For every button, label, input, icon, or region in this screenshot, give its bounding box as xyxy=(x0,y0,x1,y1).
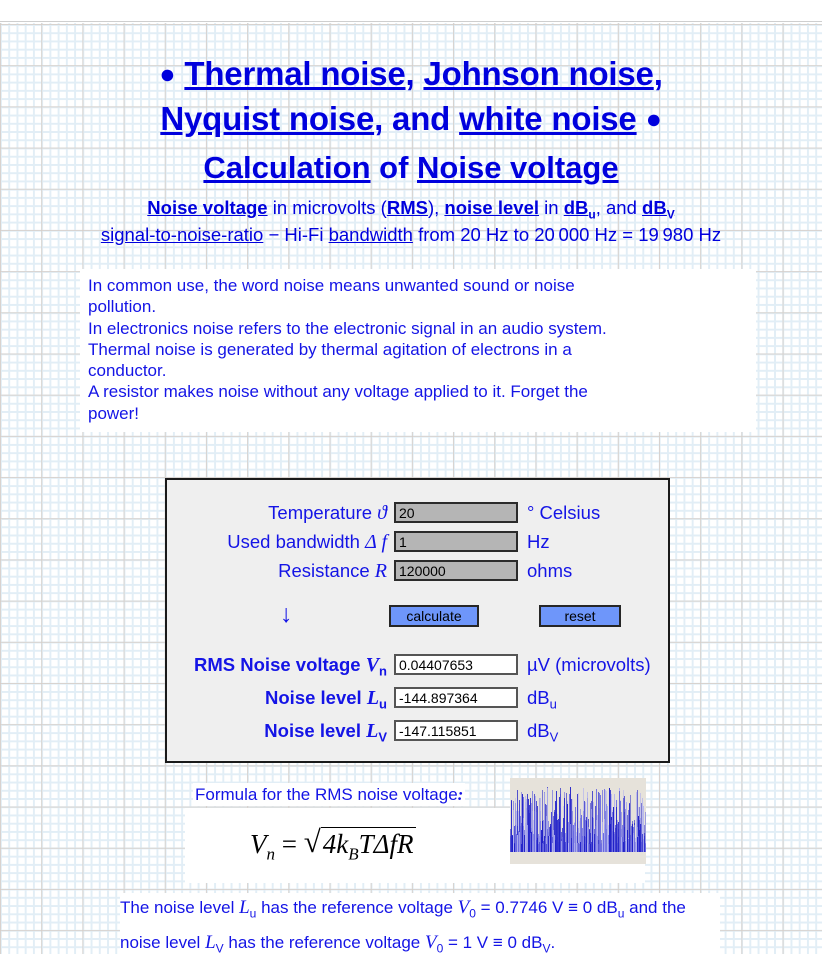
formula-box: Vn = √ 4kBTΔfR xyxy=(185,808,645,883)
link-dbu[interactable]: dBu xyxy=(564,197,596,218)
temperature-input[interactable] xyxy=(394,502,518,523)
noise-level-lu-output[interactable] xyxy=(394,687,518,708)
unit-celsius: ° Celsius xyxy=(527,500,600,526)
formula-sqrt: √ 4kBTΔfR xyxy=(304,826,417,864)
sub1-f: in xyxy=(539,197,564,218)
subtitle-line-2: signal-to-noise-ratio − Hi-Fi bandwidth … xyxy=(0,222,822,247)
dbv-subscript: V xyxy=(667,208,675,222)
noise-calculator-panel: Temperature ϑ ° Celsius Used bandwidth Δ… xyxy=(165,478,670,763)
formula-vn: V xyxy=(250,829,267,859)
fn-p6: = 1 V ≡ 0 dB xyxy=(443,933,542,952)
label-rms-noise-voltage: RMS Noise voltage Vn xyxy=(194,652,387,685)
symbol-r: R xyxy=(375,560,387,582)
reset-button[interactable]: reset xyxy=(539,605,621,627)
label-resistance-text: Resistance xyxy=(278,560,375,581)
fn-lv-sub: V xyxy=(216,942,224,954)
fn-v0b: V xyxy=(425,932,437,953)
conjunction-and: , and xyxy=(374,100,459,137)
symbol-theta: ϑ xyxy=(377,502,387,524)
dbu-subscript: u xyxy=(588,208,595,222)
sub2-d: from 20 Hz to 20 000 Hz = 19 980 Hz xyxy=(413,224,721,245)
unit-ohms: ohms xyxy=(527,558,572,584)
sub2-b: − Hi-Fi xyxy=(263,224,328,245)
sub1-b: in microvolts ( xyxy=(268,197,387,218)
intro-line-4: Thermal noise is generated by thermal ag… xyxy=(88,339,748,360)
row-bandwidth: Used bandwidth Δ f Hz xyxy=(167,529,672,555)
formula-equals: = xyxy=(282,829,297,859)
label-temperature-text: Temperature xyxy=(268,502,377,523)
fn-p2: has the reference voltage xyxy=(256,898,457,917)
symbol-lu: L xyxy=(367,687,379,709)
intro-paragraph: In common use, the word noise means unwa… xyxy=(80,269,756,432)
bandwidth-input[interactable] xyxy=(394,531,518,552)
dbu-text: dB xyxy=(564,197,589,218)
white-noise-waveform-image xyxy=(510,778,646,864)
label-resistance: Resistance R xyxy=(278,558,387,584)
unit-dbu-sub: u xyxy=(550,697,557,712)
link-white-noise[interactable]: white noise xyxy=(459,100,637,137)
intro-line-2: pollution. xyxy=(88,296,748,317)
label-bandwidth: Used bandwidth Δ f xyxy=(227,529,387,555)
symbol-lv: L xyxy=(366,720,378,742)
comma-1: , xyxy=(406,55,424,92)
link-nyquist-noise[interactable]: Nyquist noise xyxy=(160,100,374,137)
dbv-text: dB xyxy=(642,197,667,218)
bullet-right-icon: ● xyxy=(646,104,662,134)
intro-line-3: In electronics noise refers to the elect… xyxy=(88,318,748,339)
link-noise-voltage[interactable]: Noise voltage xyxy=(147,197,267,218)
row-actions: ↓ calculate reset xyxy=(167,605,672,631)
fn-lv: L xyxy=(205,932,216,953)
symbol-vn-sub: n xyxy=(379,664,387,679)
calculate-button[interactable]: calculate xyxy=(389,605,479,627)
formula-caption-colon: : xyxy=(458,785,464,804)
sqrt-icon: √ xyxy=(304,824,321,860)
formula-caption: Formula for the RMS noise voltage: xyxy=(193,783,465,806)
intro-line-7: power! xyxy=(88,403,748,424)
row-noise-level-lv: Noise level LV dBV xyxy=(167,718,672,744)
formula-radicand: 4kBTΔfR xyxy=(321,827,417,864)
heading-calculation: Calculation xyxy=(203,150,370,185)
unit-dbu-text: dB xyxy=(527,687,550,708)
intro-line-1: In common use, the word noise means unwa… xyxy=(88,275,748,296)
heading-of: of xyxy=(371,150,418,185)
link-noise-level[interactable]: noise level xyxy=(444,197,539,218)
unit-dbu: dBu xyxy=(527,685,557,718)
label-rms-text: RMS Noise voltage xyxy=(194,654,366,675)
page-title-line1: ● Thermal noise, Johnson noise, xyxy=(0,51,822,97)
fn-v0a: V xyxy=(458,897,470,918)
radicand-4kb: 4k xyxy=(323,829,348,859)
fn-p5: has the reference voltage xyxy=(224,933,425,952)
row-resistance: Resistance R ohms xyxy=(167,558,672,584)
fn-p7: . xyxy=(551,933,556,952)
resistance-input[interactable] xyxy=(394,560,518,581)
fn-p1: The noise level xyxy=(120,898,239,917)
fn-p6-sub: V xyxy=(542,942,550,954)
browser-top-bar xyxy=(0,0,822,22)
row-noise-level-lu: Noise level Lu dBu xyxy=(167,685,672,711)
unit-dbv-text: dB xyxy=(527,720,550,741)
symbol-lu-sub: u xyxy=(379,697,387,712)
fn-lu: L xyxy=(239,897,250,918)
unit-hz: Hz xyxy=(527,529,550,555)
bullet-left-icon: ● xyxy=(159,59,175,89)
link-thermal-noise[interactable]: Thermal noise xyxy=(184,55,405,92)
row-temperature: Temperature ϑ ° Celsius xyxy=(167,500,672,526)
unit-dbv: dBV xyxy=(527,718,558,751)
down-arrow-icon: ↓ xyxy=(280,601,293,627)
symbol-vn: V xyxy=(366,654,379,676)
link-bandwidth[interactable]: bandwidth xyxy=(329,224,413,245)
unit-microvolts: µV (microvolts) xyxy=(527,652,651,678)
link-dbv[interactable]: dBV xyxy=(642,197,675,218)
label-temperature: Temperature ϑ xyxy=(268,500,387,526)
fn-p3: = 0.7746 V ≡ 0 dB xyxy=(476,898,618,917)
symbol-lv-sub: V xyxy=(378,730,387,745)
fn-v0a-sub: 0 xyxy=(469,906,476,920)
formula-caption-text: Formula for the RMS noise voltage xyxy=(195,785,458,804)
label-noise-level-lv: Noise level LV xyxy=(264,718,387,751)
row-rms-noise-voltage: RMS Noise voltage Vn µV (microvolts) xyxy=(167,652,672,678)
link-signal-to-noise-ratio[interactable]: signal-to-noise-ratio xyxy=(101,224,263,245)
noise-level-lv-output[interactable] xyxy=(394,720,518,741)
label-bandwidth-text: Used bandwidth xyxy=(227,531,365,552)
intro-line-6: A resistor makes noise without any volta… xyxy=(88,381,748,402)
radicand-b-sub: B xyxy=(348,844,358,863)
footnote-paragraph: The noise level Lu has the reference vol… xyxy=(120,893,720,954)
label-lv-text: Noise level xyxy=(264,720,366,741)
page-canvas: ● Thermal noise, Johnson noise, Nyquist … xyxy=(0,23,822,954)
label-noise-level-lu: Noise level Lu xyxy=(265,685,387,718)
link-noise-voltage-heading[interactable]: Noise voltage xyxy=(417,150,619,185)
page-title-line2: Nyquist noise, and white noise ● xyxy=(0,96,822,142)
link-rms[interactable]: RMS xyxy=(387,197,428,218)
formula-expression: Vn = √ 4kBTΔfR xyxy=(250,826,416,864)
comma-2: , xyxy=(654,55,663,92)
rms-noise-voltage-output[interactable] xyxy=(394,654,518,675)
unit-dbv-sub: V xyxy=(550,730,559,745)
label-lu-text: Noise level xyxy=(265,687,367,708)
symbol-delta-f: Δ f xyxy=(365,531,387,553)
link-johnson-noise[interactable]: Johnson noise xyxy=(423,55,653,92)
intro-line-5: conductor. xyxy=(88,360,748,381)
sub1-h: , and xyxy=(596,197,642,218)
sub1-d: ), xyxy=(428,197,444,218)
radicand-tdfr: TΔfR xyxy=(359,829,414,859)
page-subtitle-heading: Calculation of Noise voltage xyxy=(0,148,822,188)
formula-vn-sub: n xyxy=(267,844,276,863)
